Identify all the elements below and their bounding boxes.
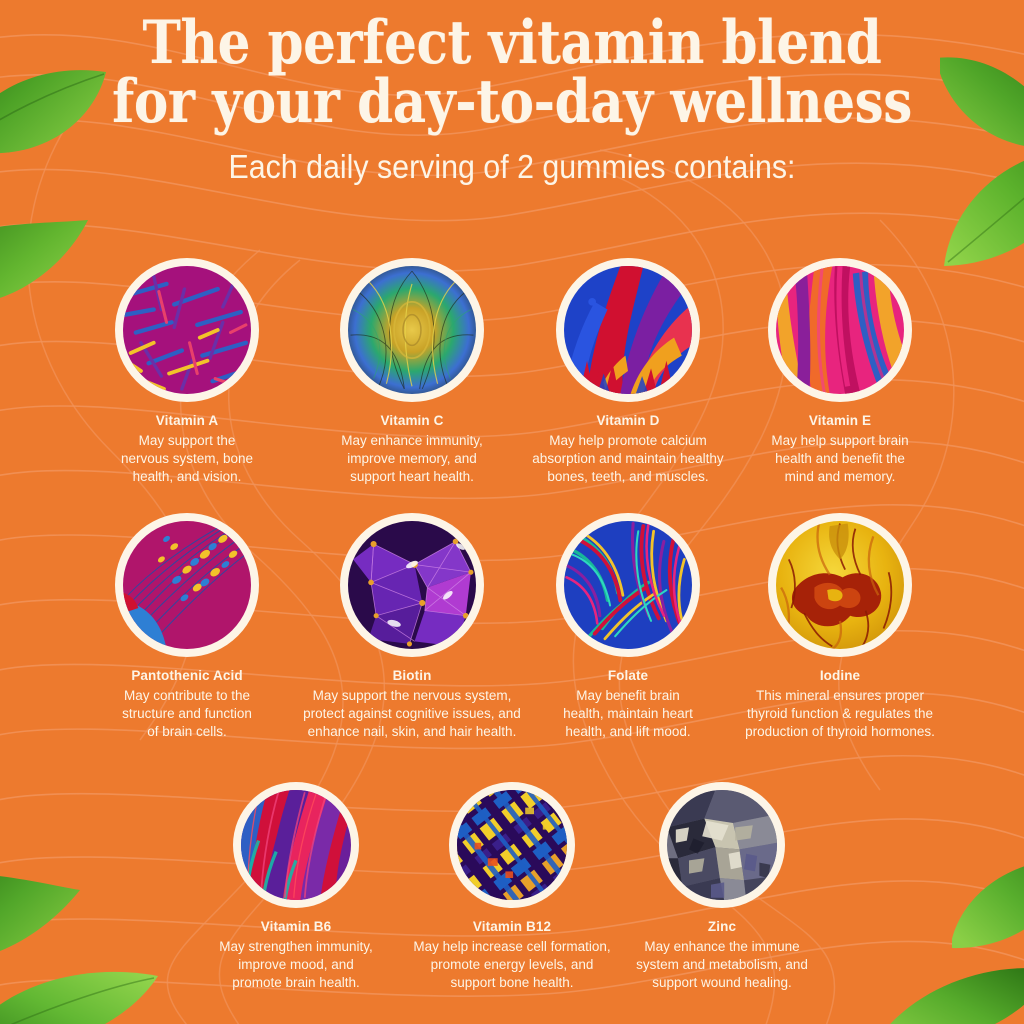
nutrient-description: May support the nervous system, bone hea…: [87, 432, 287, 486]
nutrient-image-circle: [115, 258, 259, 402]
nutrient-item-iodine: Iodine This mineral ensures proper thyro…: [720, 513, 960, 741]
zinc-mineral-photograph-icon: [667, 790, 777, 900]
vitamin-b12-crystal-micrograph-icon: [457, 790, 567, 900]
nutrient-title: Pantothenic Acid: [87, 668, 287, 683]
nutrient-item-folate: Folate May benefit brain health, maintai…: [528, 513, 728, 741]
vitamin-d-crystal-micrograph-icon: [564, 266, 692, 394]
page-subtitle: Each daily serving of 2 gummies contains…: [41, 148, 983, 186]
nutrient-title: Vitamin E: [740, 413, 940, 428]
nutrient-title: Vitamin C: [312, 413, 512, 428]
folate-crystal-micrograph-icon: [564, 521, 692, 649]
nutrient-title: Zinc: [622, 919, 822, 934]
nutrient-description: May help increase cell formation, promot…: [399, 938, 625, 992]
leaf-decoration-bottom-right-1: [952, 856, 1024, 956]
nutrient-item-vitamin-c: Vitamin C May enhance immunity, improve …: [312, 258, 512, 486]
nutrient-image-circle: [449, 782, 575, 908]
nutrient-item-vitamin-b6: Vitamin B6 May strengthen immunity, impr…: [196, 782, 396, 992]
nutrient-description: May help support brain health and benefi…: [740, 432, 940, 486]
nutrient-image-circle: [115, 513, 259, 657]
nutrient-image-circle: [340, 258, 484, 402]
nutrient-title: Vitamin B6: [196, 919, 396, 934]
nutrient-item-vitamin-e: Vitamin E May help support brain health …: [740, 258, 940, 486]
nutrient-image-circle: [768, 513, 912, 657]
nutrient-description: May enhance immunity, improve memory, an…: [312, 432, 512, 486]
vitamin-c-crystal-micrograph-icon: [348, 266, 476, 394]
nutrient-item-pantothenic-acid: Pantothenic Acid May contribute to the s…: [87, 513, 287, 741]
poster-header: The perfect vitamin blend for your day-t…: [0, 14, 1024, 186]
vitamin-a-crystal-micrograph-icon: [123, 266, 251, 394]
nutrient-item-vitamin-d: Vitamin D May help promote calcium absor…: [503, 258, 753, 486]
nutrient-image-circle: [556, 513, 700, 657]
nutrient-item-biotin: Biotin May support the nervous system, p…: [277, 513, 547, 741]
nutrient-image-circle: [768, 258, 912, 402]
nutrient-description: May contribute to the structure and func…: [87, 687, 287, 741]
nutrient-description: May benefit brain health, maintain heart…: [528, 687, 728, 741]
nutrient-description: May enhance the immune system and metabo…: [622, 938, 822, 992]
nutrient-image-circle: [659, 782, 785, 908]
leaf-decoration-top-left-2: [0, 218, 94, 323]
leaf-decoration-bottom-left-1: [0, 868, 84, 978]
nutrient-title: Vitamin B12: [399, 919, 625, 934]
nutrient-title: Iodine: [720, 668, 960, 683]
leaf-decoration-bottom-right-2: [876, 962, 1024, 1024]
nutrient-description: This mineral ensures proper thyroid func…: [720, 687, 960, 741]
nutrient-image-circle: [233, 782, 359, 908]
nutrient-item-vitamin-b12: Vitamin B12 May help increase cell forma…: [399, 782, 625, 992]
page-title: The perfect vitamin blend for your day-t…: [72, 14, 953, 132]
vitamin-b6-crystal-micrograph-icon: [241, 790, 351, 900]
nutrient-title: Folate: [528, 668, 728, 683]
biotin-crystal-micrograph-icon: [348, 521, 476, 649]
nutrient-item-vitamin-a: Vitamin A May support the nervous system…: [87, 258, 287, 486]
nutrient-image-circle: [340, 513, 484, 657]
infographic-poster: The perfect vitamin blend for your day-t…: [0, 0, 1024, 1024]
iodine-fluid-micrograph-icon: [776, 521, 904, 649]
nutrient-title: Biotin: [277, 668, 547, 683]
nutrient-item-zinc: Zinc May enhance the immune system and m…: [622, 782, 822, 992]
nutrient-description: May strengthen immunity, improve mood, a…: [196, 938, 396, 992]
pantothenic-acid-crystal-micrograph-icon: [123, 521, 251, 649]
nutrient-description: May support the nervous system, protect …: [277, 687, 547, 741]
nutrient-description: May help promote calcium absorption and …: [503, 432, 753, 486]
nutrient-title: Vitamin D: [503, 413, 753, 428]
nutrient-image-circle: [556, 258, 700, 402]
vitamin-e-crystal-micrograph-icon: [776, 266, 904, 394]
nutrient-title: Vitamin A: [87, 413, 287, 428]
leaf-decoration-bottom-left-2: [0, 958, 162, 1024]
